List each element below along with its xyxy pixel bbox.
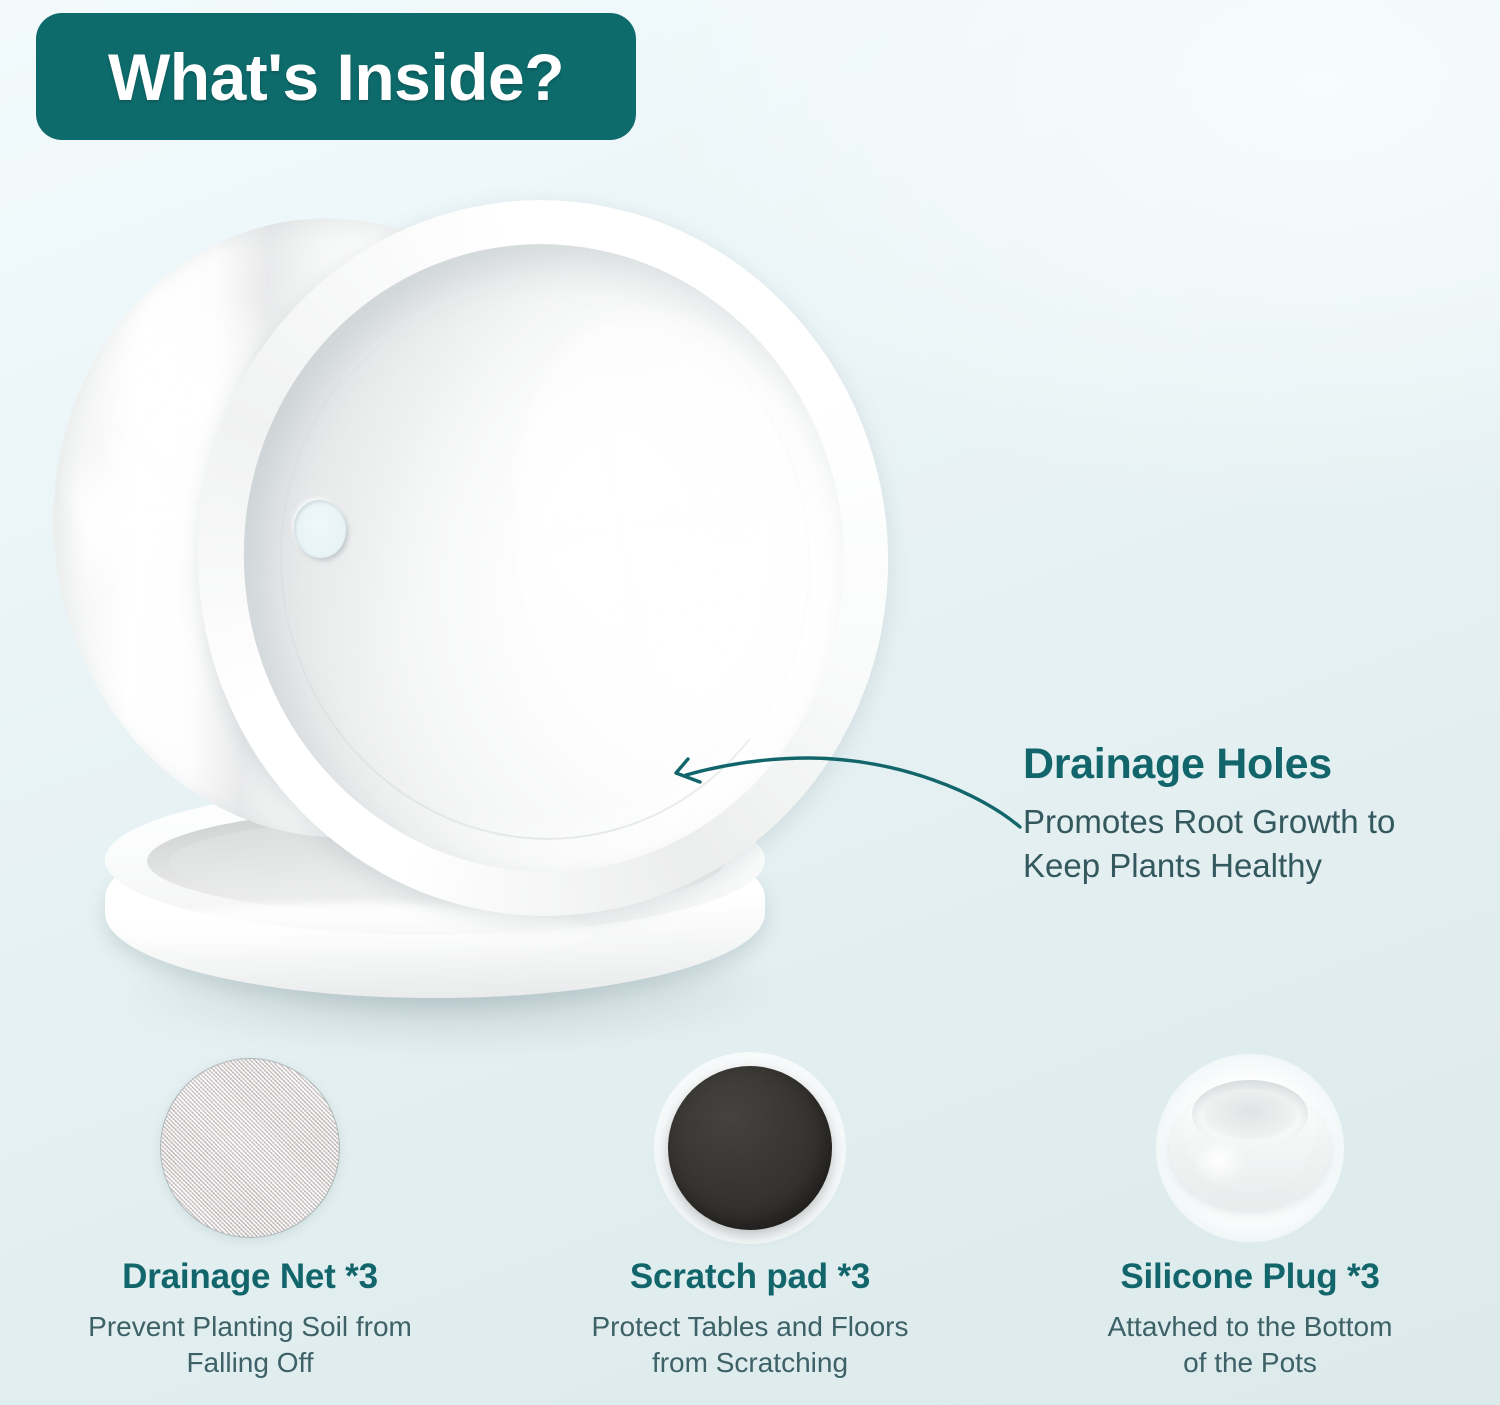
scratch-pad-icon [660,1058,840,1238]
silicone-plug-icon [1160,1058,1340,1238]
felt-disc [668,1066,832,1230]
curved-arrow-icon [650,735,1050,855]
accessory-description: Protect Tables and Floors from Scratchin… [592,1309,909,1383]
callout-description-line1: Promotes Root Growth to [1023,800,1453,844]
plug-highlight [1196,1144,1248,1186]
callout-description-line2: Keep Plants Healthy [1023,844,1453,888]
plug-bowl-inner [1204,1089,1296,1139]
accessory-item-drainage-net: Drainage Net *3 Prevent Planting Soil fr… [0,1058,500,1382]
accessory-description-line1: Attavhed to the Bottom [1108,1309,1393,1346]
callout-description: Promotes Root Growth to Keep Plants Heal… [1023,800,1453,888]
infographic-page: What's Inside? [0,0,1500,1405]
callout-arrow-wrap [650,735,1050,855]
accessory-description-line1: Prevent Planting Soil from [88,1309,412,1346]
callout-title: Drainage Holes [1023,740,1453,788]
accessory-description-line2: Falling Off [88,1345,412,1382]
drainage-net-icon [160,1058,340,1238]
accessory-title: Drainage Net *3 [122,1258,378,1297]
accessory-description-line2: from Scratching [592,1345,909,1382]
accessory-description-line1: Protect Tables and Floors [592,1309,909,1346]
whats-inside-badge: What's Inside? [36,13,636,140]
page-title: What's Inside? [108,44,564,110]
accessory-item-silicone-plug: Silicone Plug *3 Attavhed to the Bottom … [1000,1058,1500,1382]
mesh-disc [160,1058,340,1238]
accessory-item-scratch-pad: Scratch pad *3 Protect Tables and Floors… [500,1058,1000,1382]
accessory-title: Silicone Plug *3 [1120,1258,1379,1297]
accessory-description: Prevent Planting Soil from Falling Off [88,1309,412,1383]
accessory-title: Scratch pad *3 [630,1258,870,1297]
accessories-row: Drainage Net *3 Prevent Planting Soil fr… [0,1058,1500,1382]
accessory-description-line2: of the Pots [1108,1345,1393,1382]
accessory-description: Attavhed to the Bottom of the Pots [1108,1309,1393,1383]
drainage-holes-callout: Drainage Holes Promotes Root Growth to K… [1023,740,1453,889]
hero-product-image: Drainage Holes Promotes Root Growth to K… [0,160,1500,1040]
